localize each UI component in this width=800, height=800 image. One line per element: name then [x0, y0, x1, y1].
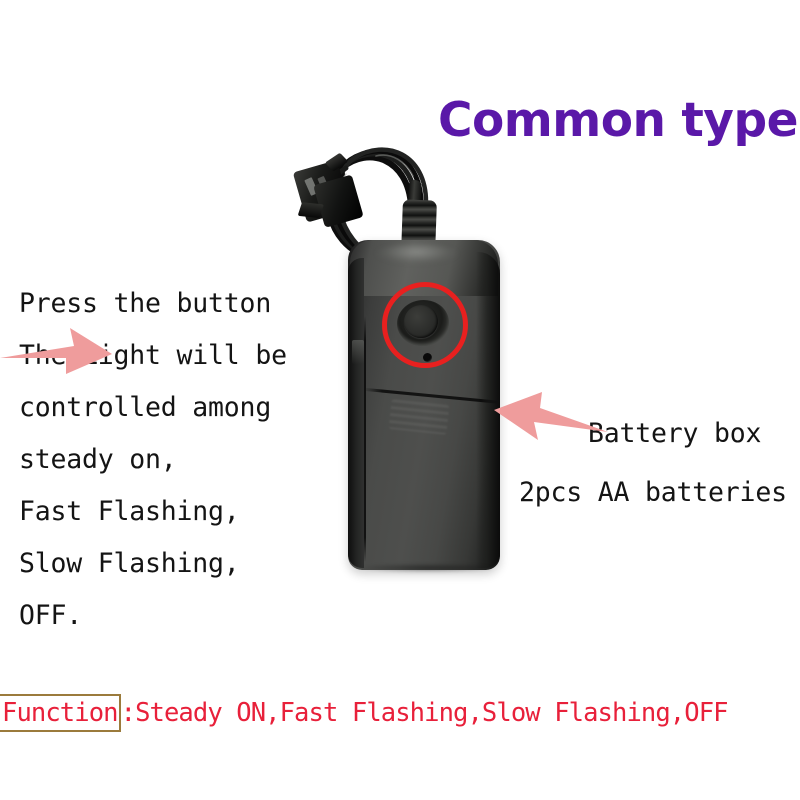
- arrow-to-battery-box-icon: [490, 388, 610, 444]
- function-label: Function: [2, 698, 118, 728]
- body-left-edge: [348, 258, 364, 568]
- body-seam-vertical: [364, 316, 366, 562]
- callout-label-battery-box: Battery box: [588, 418, 761, 450]
- battery-cover-latch: [352, 340, 364, 364]
- connector-tab-lower: [298, 202, 324, 218]
- highlight-circle: [382, 282, 468, 368]
- page-title: Common type: [438, 97, 798, 145]
- battery-box-photo: [280, 140, 580, 580]
- infographic-canvas: Common type Press the button The Light w…: [0, 0, 800, 800]
- instruction-line: OFF.: [19, 590, 329, 642]
- embossed-marking: [389, 399, 450, 435]
- function-banner-row: Function :Steady ON,Fast Flashing,Slow F…: [2, 694, 728, 732]
- function-label-box: Function: [0, 694, 121, 732]
- lid-highlight: [376, 244, 458, 264]
- function-value: :Steady ON,Fast Flashing,Slow Flashing,O…: [121, 698, 728, 728]
- connector-housing-lower: [313, 174, 364, 227]
- function-banner: Function :Steady ON,Fast Flashing,Slow F…: [0, 694, 800, 732]
- body-base-shadow: [364, 564, 492, 572]
- arrow-to-button-icon: [0, 318, 120, 384]
